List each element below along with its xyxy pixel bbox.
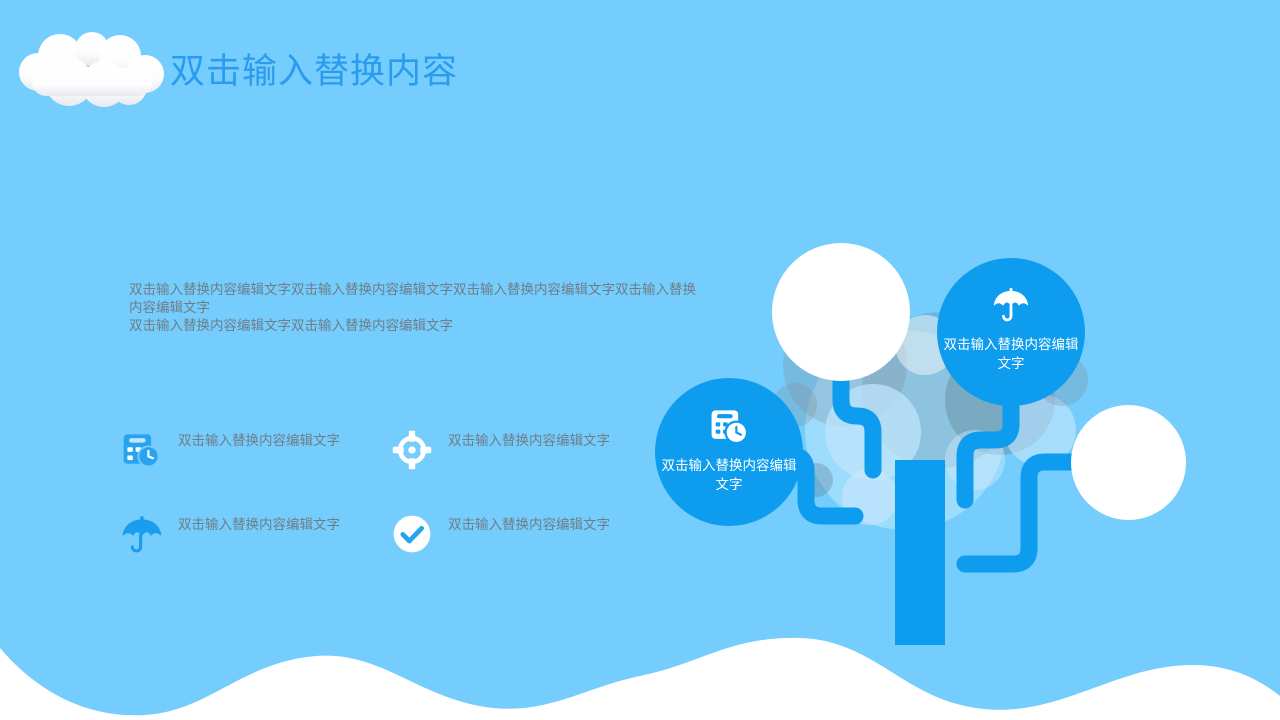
umbrella-icon	[990, 283, 1032, 330]
feature-row-1: 双击输入替换内容编辑文字 双击输入替换内容编辑文字	[118, 424, 658, 508]
tree-node-schedule[interactable]: 双击输入替换内容编辑文字	[655, 378, 803, 526]
feature-label: 双击输入替换内容编辑文字	[178, 515, 348, 535]
feature-item-umbrella[interactable]: 双击输入替换内容编辑文字	[118, 508, 388, 592]
feature-list: 双击输入替换内容编辑文字 双击输入替换内容编辑文字	[118, 424, 658, 592]
tree-node-label: 双击输入替换内容编辑文字	[937, 335, 1085, 373]
feature-item-schedule[interactable]: 双击输入替换内容编辑文字	[118, 424, 388, 508]
tree-node-umbrella[interactable]: 双击输入替换内容编辑文字	[937, 258, 1085, 406]
schedule-clock-icon	[118, 426, 166, 474]
crosshair-target-icon	[388, 426, 436, 474]
leaf-circle-top	[772, 243, 910, 381]
schedule-clock-icon	[707, 404, 751, 453]
tree-node-label: 双击输入替换内容编辑文字	[655, 456, 803, 494]
slide-canvas: 双击输入替换内容 双击输入替换内容编辑文字双击输入替换内容编辑文字双击输入替换内…	[0, 0, 1280, 720]
feature-label: 双击输入替换内容编辑文字	[448, 515, 618, 535]
check-circle-icon	[388, 510, 436, 558]
bottom-wave-decoration	[0, 610, 1280, 720]
page-title: 双击输入替换内容	[170, 50, 458, 94]
leaf-circle-right	[1071, 405, 1186, 520]
umbrella-icon	[118, 510, 166, 558]
feature-row-2: 双击输入替换内容编辑文字 双击输入替换内容编辑文字	[118, 508, 658, 592]
cloud-icon	[14, 32, 174, 110]
feature-label: 双击输入替换内容编辑文字	[448, 431, 618, 451]
feature-label: 双击输入替换内容编辑文字	[178, 431, 348, 451]
